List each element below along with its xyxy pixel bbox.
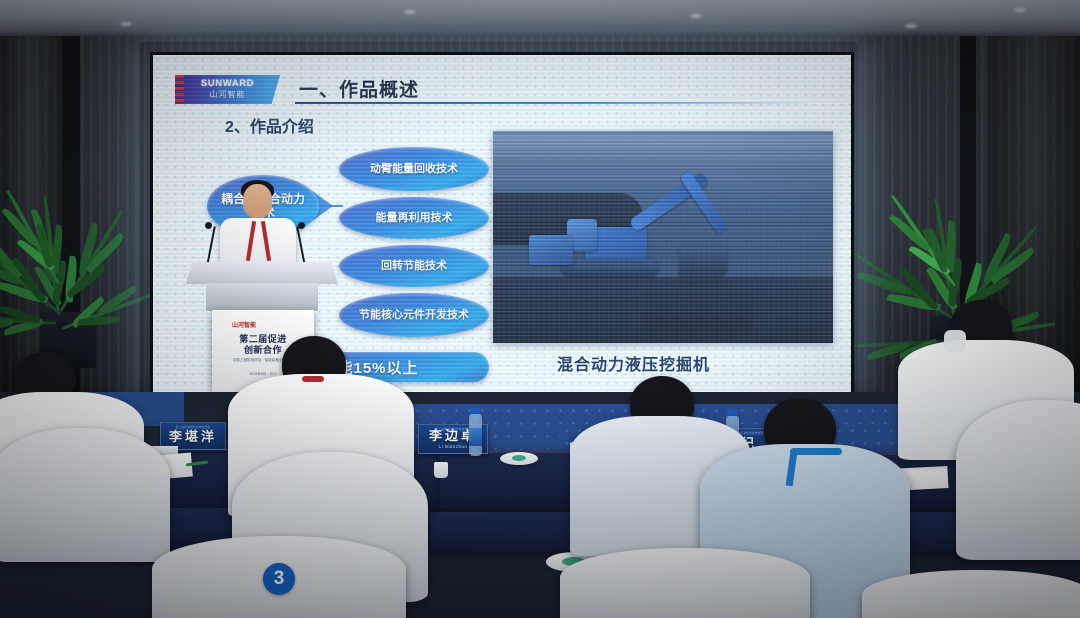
chair-back-left[interactable] bbox=[0, 428, 170, 562]
paper-cup bbox=[434, 462, 448, 478]
logo-tick-marks-icon bbox=[175, 75, 184, 104]
oval-technology-1: 动臂能量回收技术 bbox=[339, 147, 489, 191]
microphone-head-icon bbox=[298, 222, 305, 229]
podium-body bbox=[206, 283, 318, 311]
chair-front-center[interactable] bbox=[560, 548, 810, 618]
chair-right-mid[interactable] bbox=[956, 400, 1080, 560]
slide-section-heading: 2、作品介绍 bbox=[225, 113, 314, 137]
placard-name-cn: 李堪洋 bbox=[169, 430, 217, 443]
oval-technology-3: 回转节能技术 bbox=[339, 245, 489, 287]
podium-top bbox=[186, 262, 338, 284]
attendee-lanyard bbox=[302, 376, 324, 382]
photo-led-texture bbox=[493, 131, 833, 343]
oval-technology-4: 节能核心元件开发技术 bbox=[339, 293, 489, 337]
logo-text-cn: 山河智能 bbox=[210, 90, 246, 100]
excavator-photo bbox=[493, 131, 833, 343]
placard-name-en: LI Bianzhuo bbox=[439, 444, 468, 449]
downlight-icon bbox=[1014, 8, 1026, 12]
downlight-icon bbox=[120, 22, 132, 26]
saucer-contents bbox=[512, 455, 526, 461]
downlight-icon bbox=[905, 24, 917, 28]
slide-title: 一、作品概述 bbox=[299, 75, 419, 102]
plant-left bbox=[0, 68, 160, 368]
oval-technology-2: 能量再利用技术 bbox=[339, 197, 489, 239]
sunward-logo: SUNWARD 山河智能 bbox=[175, 75, 280, 104]
bottle-label bbox=[469, 428, 482, 446]
downlight-icon bbox=[404, 10, 416, 14]
title-underline bbox=[295, 102, 811, 104]
microphone-head-icon bbox=[205, 222, 212, 229]
face-mask bbox=[944, 330, 966, 352]
placard-header-text: 第二届促进创新合作交流会 bbox=[176, 425, 211, 429]
downlight-icon bbox=[690, 14, 702, 18]
photo-caption: 混合动力液压挖掘机 bbox=[557, 351, 710, 375]
chair-right-front[interactable] bbox=[862, 570, 1080, 618]
logo-text-en: SUNWARD bbox=[201, 79, 254, 89]
chair-number-badge: 3 bbox=[263, 563, 295, 595]
conference-room-photo: SUNWARD 山河智能 一、作品概述 2、作品介绍 耦合式混合动力技术 动臂能… bbox=[0, 0, 1080, 618]
podium-banner-logo: 山河智能 bbox=[232, 320, 256, 329]
attendee-lanyard bbox=[790, 448, 842, 455]
placard-header-text: 第二届促进创新合作交流会 bbox=[436, 427, 471, 431]
